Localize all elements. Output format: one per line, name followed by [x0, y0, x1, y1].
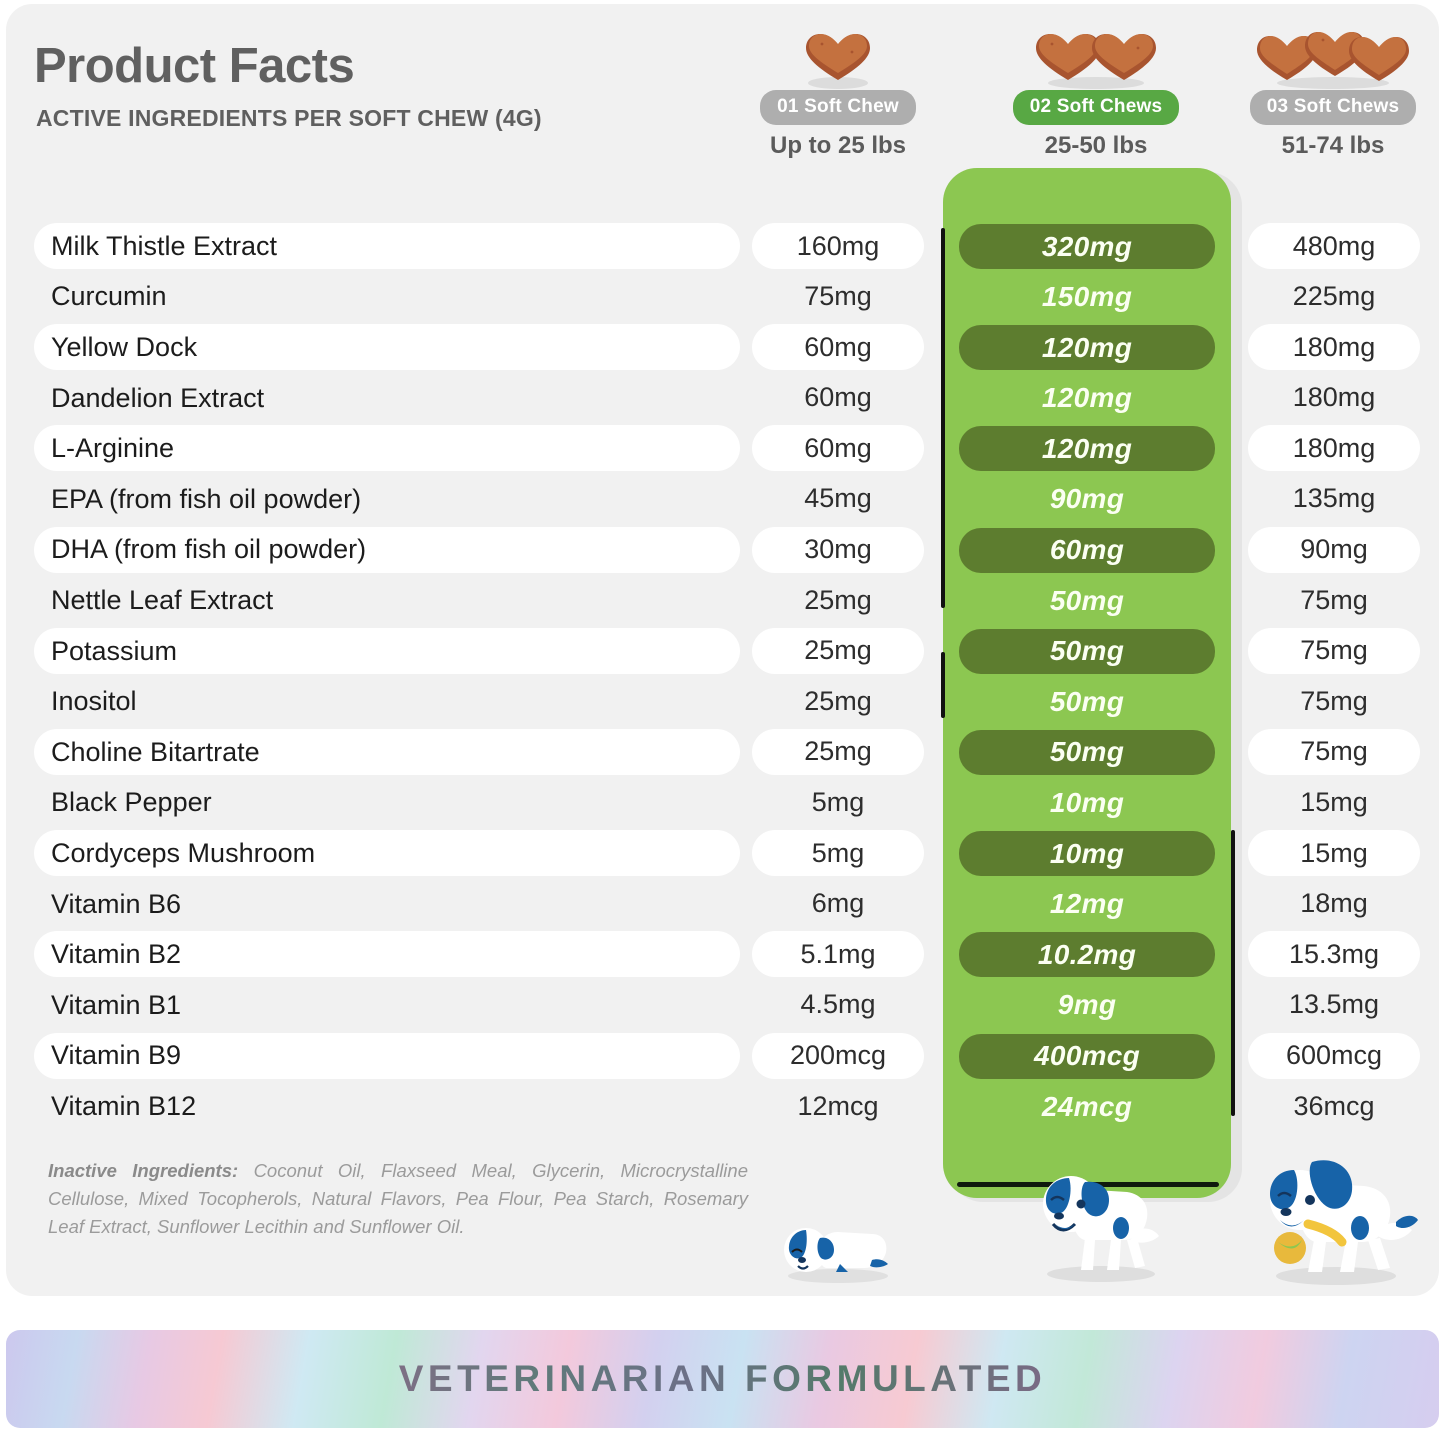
dose-value-1-text: 12mcg: [797, 1091, 878, 1122]
dog-illustration-medium: [1023, 1156, 1173, 1284]
dose-value-2: 120mg: [959, 325, 1215, 370]
ingredient-name: Vitamin B9: [51, 1031, 181, 1082]
dose-value-2: 24mcg: [959, 1084, 1215, 1129]
dose-value-1: 25mg: [752, 577, 924, 623]
dose-value-2: 10.2mg: [959, 932, 1215, 977]
table-row: Vitamin B9200mcg400mcg600mcg: [0, 1031, 1433, 1082]
dose-badge-1: 01 Soft Chew: [760, 90, 916, 125]
ingredient-name: Vitamin B12: [51, 1081, 196, 1132]
dose-value-3-text: 225mg: [1293, 281, 1376, 312]
dose-value-2: 120mg: [959, 426, 1215, 471]
table-row: Cordyceps Mushroom5mg10mg15mg: [0, 828, 1433, 879]
dose-value-3-text: 75mg: [1300, 635, 1368, 666]
dose-value-1: 5mg: [752, 780, 924, 826]
table-row: Milk Thistle Extract160mg320mg480mg: [0, 221, 1433, 272]
ingredient-name: Cordyceps Mushroom: [51, 828, 315, 879]
dose-value-2-text: 90mg: [1050, 483, 1124, 515]
dose-value-3-text: 180mg: [1293, 332, 1376, 363]
dose-value-2: 10mg: [959, 781, 1215, 826]
veterinarian-formulated-banner: VETERINARIAN FORMULATED: [6, 1330, 1439, 1428]
dose-value-1-text: 45mg: [804, 483, 872, 514]
ingredient-name: Vitamin B2: [51, 929, 181, 980]
table-row: Black Pepper5mg10mg15mg: [0, 778, 1433, 829]
dose-badge-2: 02 Soft Chews: [1013, 90, 1179, 125]
soft-chew-icon-group-1: [723, 18, 953, 90]
dose-value-3-text: 180mg: [1293, 382, 1376, 413]
dose-value-2-text: 50mg: [1050, 736, 1124, 768]
dose-value-3: 180mg: [1248, 324, 1420, 370]
dose-value-2: 9mg: [959, 983, 1215, 1028]
table-row: Yellow Dock60mg120mg180mg: [0, 322, 1433, 373]
ingredient-name: Vitamin B1: [51, 980, 181, 1031]
dose-value-2-text: 10.2mg: [1038, 939, 1136, 971]
table-row: EPA (from fish oil powder)45mg90mg135mg: [0, 474, 1433, 525]
dose-value-2: 400mcg: [959, 1034, 1215, 1079]
dose-value-3-text: 36mcg: [1293, 1091, 1374, 1122]
dose-value-2-text: 120mg: [1042, 433, 1132, 465]
dose-value-1-text: 60mg: [804, 433, 872, 464]
page-title: Product Facts: [34, 38, 354, 94]
dose-value-3-text: 75mg: [1300, 736, 1368, 767]
dose-badge-3: 03 Soft Chews: [1250, 90, 1416, 125]
ingredient-name: EPA (from fish oil powder): [51, 474, 361, 525]
dose-value-1: 4.5mg: [752, 982, 924, 1028]
table-row: Dandelion Extract60mg120mg180mg: [0, 373, 1433, 424]
dose-value-2-text: 12mg: [1050, 888, 1124, 920]
dose-value-1-text: 25mg: [804, 585, 872, 616]
dose-value-3-text: 15mg: [1300, 787, 1368, 818]
dose-value-3: 225mg: [1248, 274, 1420, 320]
dose-value-1-text: 25mg: [804, 635, 872, 666]
dose-value-3: 75mg: [1248, 628, 1420, 674]
dose-value-2-text: 50mg: [1050, 686, 1124, 718]
ingredient-pill: [34, 678, 740, 724]
dose-value-3-text: 75mg: [1300, 585, 1368, 616]
dose-value-2-text: 50mg: [1050, 635, 1124, 667]
dose-value-3-text: 13.5mg: [1289, 989, 1379, 1020]
dose-value-2-text: 120mg: [1042, 382, 1132, 414]
table-row: Vitamin B66mg12mg18mg: [0, 879, 1433, 930]
dose-value-1-text: 60mg: [804, 332, 872, 363]
table-row: Vitamin B14.5mg9mg13.5mg: [0, 980, 1433, 1031]
dose-value-3-text: 135mg: [1293, 483, 1376, 514]
inactive-ingredients-label: Inactive Ingredients:: [48, 1160, 238, 1181]
ingredient-name: Vitamin B6: [51, 879, 181, 930]
soft-chew-icon-group-2: [981, 18, 1211, 90]
dose-value-3-text: 180mg: [1293, 433, 1376, 464]
table-row: L-Arginine60mg120mg180mg: [0, 423, 1433, 474]
dose-value-1: 160mg: [752, 223, 924, 269]
dose-value-2: 90mg: [959, 477, 1215, 522]
dose-value-2-text: 10mg: [1050, 838, 1124, 870]
soft-chew-icon: [1243, 28, 1423, 90]
dose-value-3: 75mg: [1248, 678, 1420, 724]
inactive-ingredients: Inactive Ingredients: Coconut Oil, Flaxs…: [48, 1157, 748, 1241]
dose-value-1: 60mg: [752, 425, 924, 471]
table-row: Nettle Leaf Extract25mg50mg75mg: [0, 575, 1433, 626]
dose-value-3: 90mg: [1248, 527, 1420, 573]
dose-value-3: 15.3mg: [1248, 931, 1420, 977]
dose-column-header-1: 01 Soft Chew Up to 25 lbs: [723, 18, 953, 160]
dose-value-2-text: 320mg: [1042, 231, 1132, 263]
dose-value-2-text: 120mg: [1042, 332, 1132, 364]
dose-value-1-text: 6mg: [812, 888, 865, 919]
dose-value-1: 6mg: [752, 881, 924, 927]
page-subtitle: ACTIVE INGREDIENTS PER SOFT CHEW (4G): [36, 105, 542, 132]
dose-value-3: 36mcg: [1248, 1083, 1420, 1129]
dose-value-1-text: 30mg: [804, 534, 872, 565]
dose-value-1-text: 60mg: [804, 382, 872, 413]
dog-illustration-small: [776, 1208, 896, 1284]
ingredient-name: Yellow Dock: [51, 322, 197, 373]
dose-value-2: 150mg: [959, 275, 1215, 320]
dose-value-2: 12mg: [959, 882, 1215, 927]
dose-value-1-text: 5.1mg: [800, 939, 875, 970]
dose-value-1: 12mcg: [752, 1083, 924, 1129]
table-row: DHA (from fish oil powder)30mg60mg90mg: [0, 525, 1433, 576]
dose-value-1: 5mg: [752, 830, 924, 876]
dose-value-2-text: 60mg: [1050, 534, 1124, 566]
dose-value-1: 25mg: [752, 628, 924, 674]
dose-value-3-text: 15.3mg: [1289, 939, 1379, 970]
dose-value-1: 60mg: [752, 375, 924, 421]
product-facts-page: Product Facts ACTIVE INGREDIENTS PER SOF…: [0, 0, 1445, 1438]
table-row: Potassium25mg50mg75mg: [0, 626, 1433, 677]
table-row: Vitamin B25.1mg10.2mg15.3mg: [0, 929, 1433, 980]
dose-value-2: 50mg: [959, 679, 1215, 724]
soft-chew-icon: [1020, 28, 1172, 90]
dose-value-3: 135mg: [1248, 476, 1420, 522]
dose-value-3: 75mg: [1248, 577, 1420, 623]
dose-value-2-text: 10mg: [1050, 787, 1124, 819]
dose-weight-2: 25-50 lbs: [981, 132, 1211, 160]
banner-text: VETERINARIAN FORMULATED: [399, 1358, 1047, 1400]
dose-value-3: 18mg: [1248, 881, 1420, 927]
ingredient-name: L-Arginine: [51, 423, 174, 474]
dose-column-header-3: 03 Soft Chews 51-74 lbs: [1218, 18, 1445, 160]
dose-value-1-text: 75mg: [804, 281, 872, 312]
dose-value-1: 200mcg: [752, 1033, 924, 1079]
ingredient-name: Black Pepper: [51, 778, 212, 829]
dose-value-3: 13.5mg: [1248, 982, 1420, 1028]
dose-value-1-text: 4.5mg: [800, 989, 875, 1020]
soft-chew-icon-group-3: [1218, 18, 1445, 90]
dose-value-1: 30mg: [752, 527, 924, 573]
dose-value-3-text: 15mg: [1300, 838, 1368, 869]
ingredient-name: DHA (from fish oil powder): [51, 525, 366, 576]
dose-value-3-text: 90mg: [1300, 534, 1368, 565]
ingredient-name: Choline Bitartrate: [51, 727, 260, 778]
dose-value-3-text: 75mg: [1300, 686, 1368, 717]
ingredient-name: Milk Thistle Extract: [51, 221, 277, 272]
dose-value-3-text: 600mcg: [1286, 1040, 1382, 1071]
dose-value-3: 180mg: [1248, 425, 1420, 471]
dose-value-1-text: 5mg: [812, 787, 865, 818]
ingredient-name: Inositol: [51, 676, 137, 727]
dose-value-2-text: 150mg: [1042, 281, 1132, 313]
dose-value-3: 480mg: [1248, 223, 1420, 269]
dose-value-2-text: 9mg: [1058, 989, 1116, 1021]
dose-value-2-text: 50mg: [1050, 585, 1124, 617]
dose-value-1-text: 25mg: [804, 736, 872, 767]
ingredient-name: Curcumin: [51, 272, 167, 323]
dose-weight-1: Up to 25 lbs: [723, 132, 953, 160]
dose-value-3: 180mg: [1248, 375, 1420, 421]
ingredient-name: Nettle Leaf Extract: [51, 575, 273, 626]
dose-value-1-text: 5mg: [812, 838, 865, 869]
ingredients-table: Milk Thistle Extract160mg320mg480mgCurcu…: [0, 221, 1433, 1132]
dose-value-3-text: 18mg: [1300, 888, 1368, 919]
dose-value-1: 60mg: [752, 324, 924, 370]
dose-value-1: 5.1mg: [752, 931, 924, 977]
soft-chew-icon: [788, 28, 888, 90]
table-row: Choline Bitartrate25mg50mg75mg: [0, 727, 1433, 778]
dose-weight-3: 51-74 lbs: [1218, 132, 1445, 160]
dose-value-3: 15mg: [1248, 780, 1420, 826]
dose-value-2-text: 24mcg: [1042, 1091, 1132, 1123]
dose-value-1-text: 25mg: [804, 686, 872, 717]
dose-value-2-text: 400mcg: [1034, 1040, 1140, 1072]
dose-value-3: 15mg: [1248, 830, 1420, 876]
dose-value-2: 50mg: [959, 629, 1215, 674]
dose-value-2: 120mg: [959, 376, 1215, 421]
dose-value-3: 600mcg: [1248, 1033, 1420, 1079]
table-row: Inositol25mg50mg75mg: [0, 676, 1433, 727]
dose-value-1: 45mg: [752, 476, 924, 522]
dose-value-2: 50mg: [959, 578, 1215, 623]
table-row: Vitamin B1212mcg24mcg36mcg: [0, 1081, 1433, 1132]
dose-value-3-text: 480mg: [1293, 231, 1376, 262]
dog-illustration-large: [1250, 1148, 1420, 1288]
dose-value-2: 320mg: [959, 224, 1215, 269]
dose-value-1-text: 160mg: [797, 231, 880, 262]
dose-value-1: 25mg: [752, 729, 924, 775]
dose-value-3: 75mg: [1248, 729, 1420, 775]
ingredient-name: Dandelion Extract: [51, 373, 264, 424]
dose-value-1: 25mg: [752, 678, 924, 724]
dose-column-header-2: 02 Soft Chews 25-50 lbs: [981, 18, 1211, 160]
dose-value-2: 50mg: [959, 730, 1215, 775]
dose-value-1-text: 200mcg: [790, 1040, 886, 1071]
ingredient-name: Potassium: [51, 626, 177, 677]
dose-value-2: 10mg: [959, 831, 1215, 876]
table-row: Curcumin75mg150mg225mg: [0, 272, 1433, 323]
dose-value-1: 75mg: [752, 274, 924, 320]
dose-value-2: 60mg: [959, 528, 1215, 573]
